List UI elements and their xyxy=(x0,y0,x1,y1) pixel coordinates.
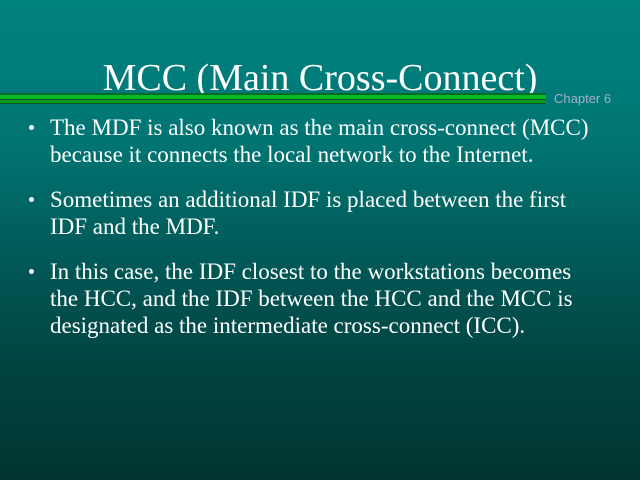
list-item: The MDF is also known as the main cross-… xyxy=(0,114,640,168)
divider-line-dark-bottom xyxy=(0,103,546,104)
list-item: Sometimes an additional IDF is placed be… xyxy=(0,186,640,240)
bullet-text: The MDF is also known as the main cross-… xyxy=(50,114,604,168)
bullet-dot-icon xyxy=(29,125,34,130)
bullet-dot-icon xyxy=(29,197,34,202)
slide-body-bullet-list: The MDF is also known as the main cross-… xyxy=(0,114,640,357)
bullet-dot-icon xyxy=(29,269,34,274)
list-item: In this case, the IDF closest to the wor… xyxy=(0,258,640,339)
title-divider: Chapter 6 xyxy=(0,93,640,109)
chapter-label: Chapter 6 xyxy=(554,92,611,106)
bullet-text: Sometimes an additional IDF is placed be… xyxy=(50,186,604,240)
bullet-text: In this case, the IDF closest to the wor… xyxy=(50,258,604,339)
divider-bar-graphic xyxy=(0,93,546,104)
presentation-slide: MCC (Main Cross-Connect) Chapter 6 The M… xyxy=(0,0,640,480)
